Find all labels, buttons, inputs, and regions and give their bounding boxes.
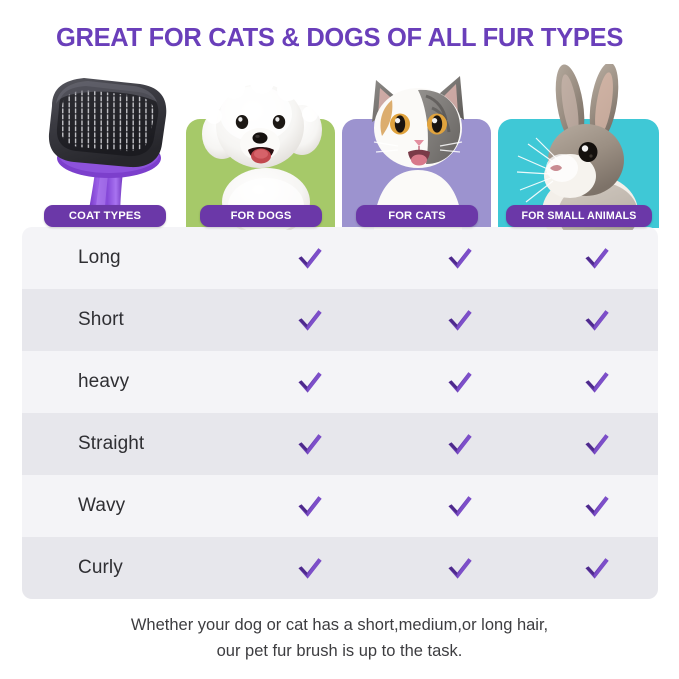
checkmark-icon	[583, 555, 611, 581]
checkmark-icon	[296, 555, 324, 581]
checkmark-icon	[583, 431, 611, 457]
table-row: Short	[22, 289, 658, 351]
cell-cats	[384, 431, 536, 457]
cell-dogs	[236, 245, 384, 271]
cell-small-animals	[536, 431, 658, 457]
cell-cats	[384, 245, 536, 271]
coat-type-label: Wavy	[22, 495, 236, 517]
table-row: Straight	[22, 413, 658, 475]
table-row: Wavy	[22, 475, 658, 537]
pet-brush-illustration	[34, 66, 184, 226]
checkmark-icon	[296, 493, 324, 519]
coat-type-label: Curly	[22, 557, 236, 579]
cell-cats	[384, 307, 536, 333]
checkmark-icon	[583, 369, 611, 395]
checkmark-icon	[583, 493, 611, 519]
cell-dogs	[236, 493, 384, 519]
footer-line-2: our pet fur brush is up to the task.	[0, 638, 679, 664]
coat-type-label: Straight	[22, 433, 236, 455]
coat-type-label: Short	[22, 309, 236, 331]
checkmark-icon	[583, 307, 611, 333]
checkmark-icon	[446, 369, 474, 395]
checkmark-icon	[296, 431, 324, 457]
checkmark-icon	[296, 369, 324, 395]
checkmark-icon	[446, 245, 474, 271]
checkmark-icon	[446, 493, 474, 519]
table-row: Curly	[22, 537, 658, 599]
cell-cats	[384, 369, 536, 395]
cell-small-animals	[536, 245, 658, 271]
cell-small-animals	[536, 307, 658, 333]
infographic-root: GREAT FOR CATS & DOGS OF ALL FUR TYPES	[0, 0, 679, 679]
hero-strip: COAT TYPES FOR DOGS FOR CATS FOR SMALL A…	[0, 60, 679, 228]
table-row: heavy	[22, 351, 658, 413]
cell-dogs	[236, 555, 384, 581]
cell-small-animals	[536, 369, 658, 395]
cell-dogs	[236, 369, 384, 395]
badge-coat-types[interactable]: COAT TYPES	[44, 205, 166, 227]
cell-small-animals	[536, 555, 658, 581]
cell-cats	[384, 493, 536, 519]
badge-for-cats[interactable]: FOR CATS	[356, 205, 478, 227]
footer-line-1: Whether your dog or cat has a short,medi…	[0, 612, 679, 638]
cell-cats	[384, 555, 536, 581]
footer-description: Whether your dog or cat has a short,medi…	[0, 612, 679, 664]
checkmark-icon	[446, 555, 474, 581]
cell-dogs	[236, 431, 384, 457]
checkmark-icon	[446, 431, 474, 457]
cell-small-animals	[536, 493, 658, 519]
coat-type-label: Long	[22, 247, 236, 269]
checkmark-icon	[583, 245, 611, 271]
coat-type-comparison-table: LongShortheavyStraightWavyCurly	[22, 227, 658, 599]
checkmark-icon	[296, 307, 324, 333]
cell-dogs	[236, 307, 384, 333]
checkmark-icon	[296, 245, 324, 271]
checkmark-icon	[446, 307, 474, 333]
badge-for-small-animals[interactable]: FOR SMALL ANIMALS	[506, 205, 652, 227]
page-title: GREAT FOR CATS & DOGS OF ALL FUR TYPES	[0, 24, 679, 53]
coat-type-label: heavy	[22, 371, 236, 393]
table-row: Long	[22, 227, 658, 289]
badge-for-dogs[interactable]: FOR DOGS	[200, 205, 322, 227]
